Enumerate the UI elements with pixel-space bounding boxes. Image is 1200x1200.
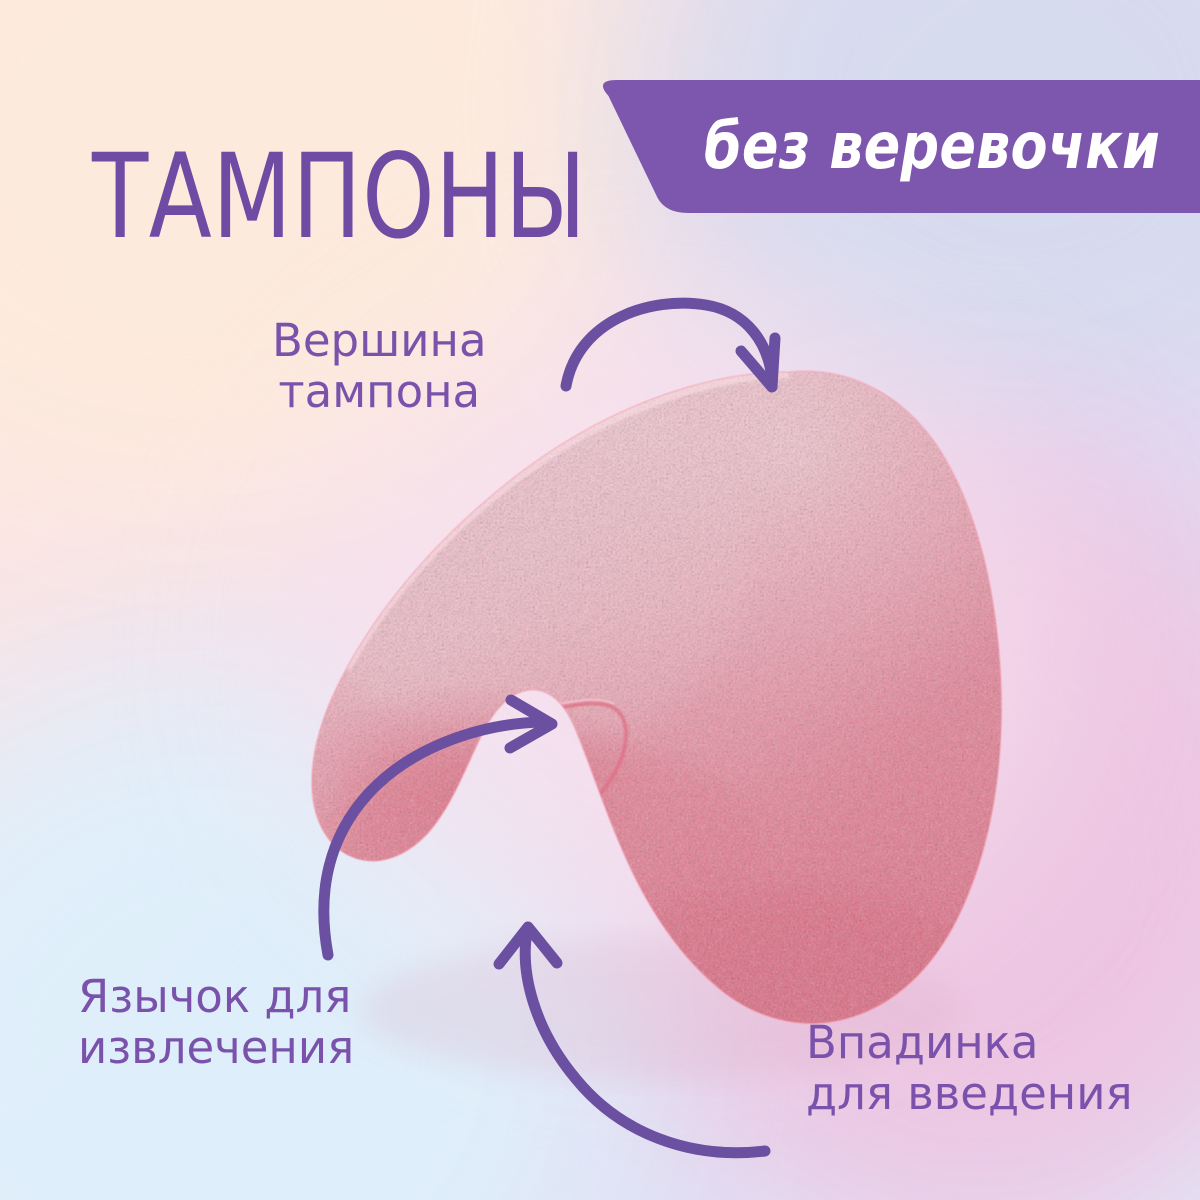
arrow-to-removal-tab [324,700,552,955]
callout-label-tampon-apex: Вершина тампона [272,316,487,418]
banner-no-string: без веревочки [600,80,1200,213]
callout-label-removal-tab: Язычок для извлечения [78,972,354,1074]
infographic-canvas: ТАМПОНЫ без веревочки Вершина тампона Яз… [0,0,1200,1200]
page-title: ТАМПОНЫ [92,138,587,255]
banner-label: без веревочки [704,115,1160,179]
arrow-to-apex [566,303,775,387]
arrow-to-insertion-notch [499,927,765,1153]
callout-label-insertion-notch: Впадинка для введения [806,1018,1133,1120]
